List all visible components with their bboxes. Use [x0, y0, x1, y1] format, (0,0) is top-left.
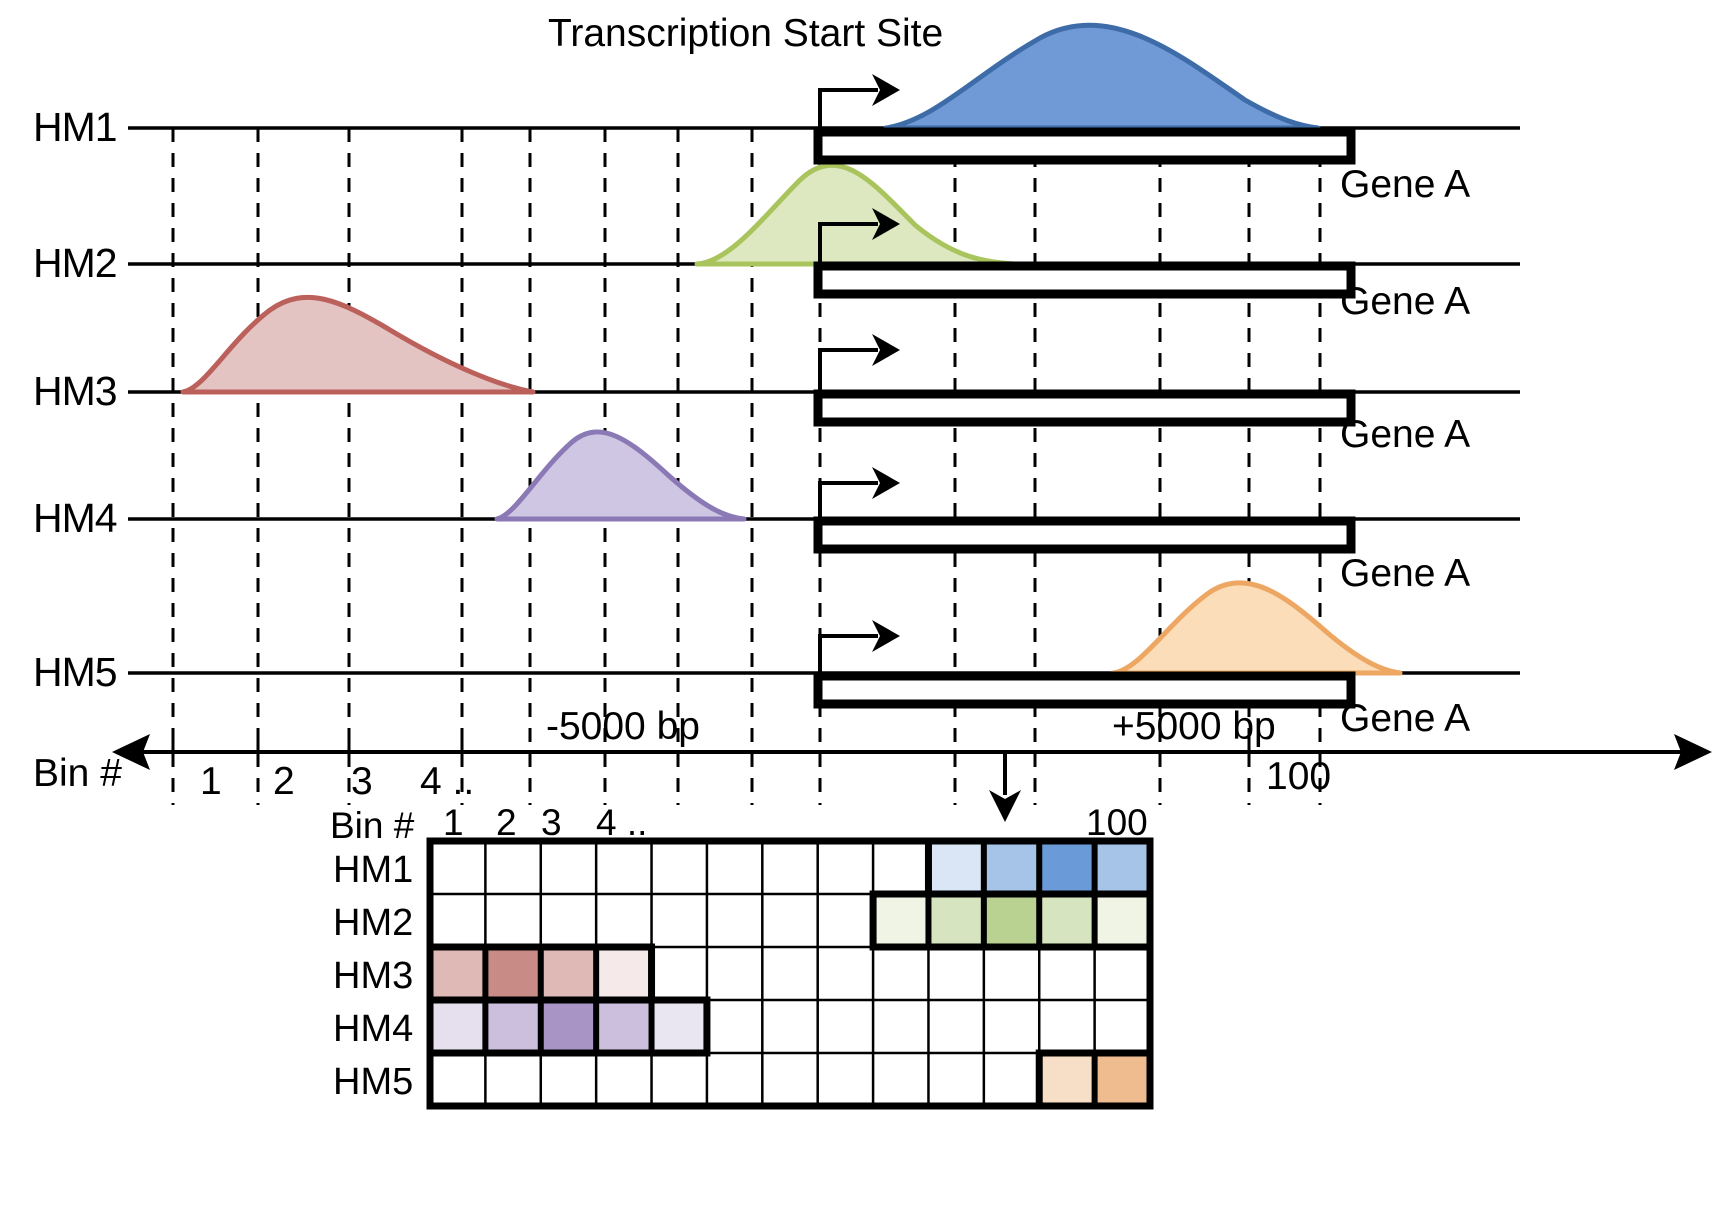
heatmap-row-label-hm4: HM4	[333, 1008, 413, 1051]
heatmap-cell	[485, 947, 540, 1000]
gene-label-4: Gene A	[1340, 552, 1470, 596]
figure-canvas: HM1 HM2 HM3 HM4 HM5 Transcription Start …	[0, 0, 1720, 1208]
gene-label-5: Gene A	[1340, 697, 1470, 741]
bin-tick-100: 100	[1266, 755, 1331, 799]
upstream-bp-label: -5000 bp	[546, 705, 700, 749]
heatmap-cell	[928, 841, 983, 894]
track-label-hm1: HM1	[33, 104, 117, 151]
heatmap-cell	[1095, 841, 1150, 894]
bin-tick-3: 3	[351, 760, 373, 804]
heatmap-connector-arrow	[989, 752, 1021, 822]
bin-axis-label: Bin #	[33, 752, 122, 796]
heatmap-col-2: 2	[496, 802, 517, 844]
heatmap-grid	[430, 841, 1150, 1106]
gene-label-2: Gene A	[1340, 280, 1470, 324]
heatmap-col-4: 4 ..	[596, 802, 647, 844]
heatmap-cell	[1039, 1053, 1094, 1106]
heatmap-cell	[1039, 894, 1094, 947]
bin-tick-1: 1	[200, 760, 222, 804]
track-label-hm5: HM5	[33, 649, 117, 696]
heatmap-cell	[984, 894, 1039, 947]
heatmap-cell	[541, 1000, 596, 1053]
gene-label-3: Gene A	[1340, 413, 1470, 457]
track-label-hm3: HM3	[33, 368, 117, 415]
gene-label-1: Gene A	[1340, 163, 1470, 207]
heatmap-col-1: 1	[443, 802, 464, 844]
heatmap-cell	[541, 947, 596, 1000]
hm5-signal-curve	[1113, 583, 1400, 673]
bin-tick-4: 4 ..	[420, 760, 474, 804]
heatmap-cell	[485, 1000, 540, 1053]
heatmap-cell	[596, 947, 651, 1000]
heatmap-col-100: 100	[1086, 802, 1148, 844]
heatmap-row-label-hm2: HM2	[333, 902, 413, 945]
heatmap-cell	[652, 1000, 707, 1053]
hm2-signal-curve	[697, 165, 1015, 264]
heatmap-cell	[1039, 841, 1094, 894]
hm4-signal-curve	[497, 432, 744, 519]
hm3-signal-curve	[183, 297, 533, 392]
heatmap-cell	[984, 841, 1039, 894]
downstream-bp-label: +5000 bp	[1112, 705, 1276, 749]
heatmap-col-3: 3	[541, 802, 562, 844]
bin-tick-2: 2	[273, 760, 295, 804]
heatmap-cell	[430, 1000, 485, 1053]
heatmap-row-label-hm5: HM5	[333, 1061, 413, 1104]
track-label-hm4: HM4	[33, 495, 117, 542]
heatmap-cell	[873, 894, 928, 947]
heatmap-row-label-hm1: HM1	[333, 849, 413, 892]
heatmap-bin-header: Bin #	[330, 805, 414, 847]
heatmap-cell	[928, 894, 983, 947]
tss-annotation: Transcription Start Site	[548, 12, 943, 56]
hm1-signal-curve	[886, 25, 1318, 128]
heatmap-cell	[596, 1000, 651, 1053]
heatmap-row-label-hm3: HM3	[333, 955, 413, 998]
heatmap-cell	[430, 947, 485, 1000]
track-label-hm2: HM2	[33, 240, 117, 287]
heatmap-cell	[1095, 894, 1150, 947]
heatmap-cell	[1095, 1053, 1150, 1106]
